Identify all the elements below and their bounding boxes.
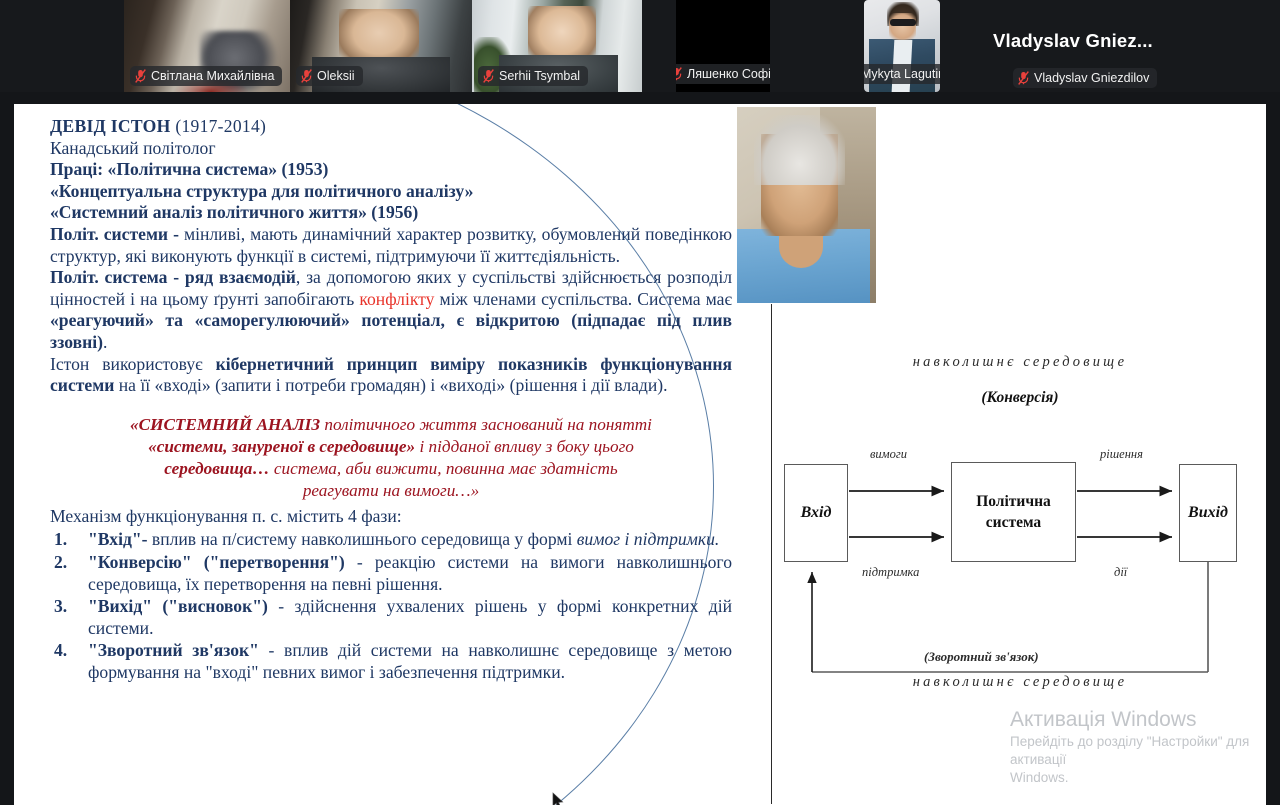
slide-text-column: ДЕВІД ІСТОН (1917-2014) Канадський політ… <box>50 116 732 683</box>
slide-subtitle: Канадський політолог <box>50 138 732 160</box>
list-item: 2."Конверсію" ("перетворення") - реакцію… <box>50 552 732 595</box>
participant-name: Mykyta Lagutin <box>864 66 940 82</box>
works-line-3: «Системний аналіз політичного життя» (19… <box>50 202 732 224</box>
list-number: 3. <box>54 596 67 618</box>
microphone-muted-icon <box>135 69 146 83</box>
phases-list: 1."Вхід"- вплив на п/систему навколишньо… <box>50 529 732 683</box>
mouse-cursor <box>552 792 564 805</box>
microphone-muted-icon <box>301 69 312 83</box>
participant-name-chip: Oleksii <box>296 66 363 86</box>
phases-intro: Механізм функціонування п. с. містить 4 … <box>50 506 732 528</box>
diagram-box-input: Вхід <box>784 464 848 562</box>
participant-name-chip: Світлана Михайлівна <box>130 66 282 86</box>
david-easton-portrait <box>737 107 876 303</box>
participant-name: Serhii Tsymbal <box>499 68 580 84</box>
quote-line-2: «системи, зануреної в середовище» і підд… <box>50 436 732 458</box>
video-tile-serhii-tsymbal[interactable]: Serhii Tsymbal <box>472 0 642 92</box>
vertical-divider <box>771 304 772 804</box>
participant-name-chip-vladyslav: Vladyslav Gniezdilov <box>1013 68 1157 88</box>
participant-name: Ляшенко Софія <box>687 66 770 82</box>
slide-title: ДЕВІД ІСТОН (1917-2014) <box>50 116 732 138</box>
microphone-muted-icon <box>483 69 494 83</box>
participant-name-chip: Ляшенко Софія <box>676 64 770 84</box>
quote-line-4: реагувати на вимоги…» <box>50 480 732 502</box>
microphone-muted-icon <box>676 67 682 81</box>
diagram-label-decisions: рішення <box>1100 447 1143 462</box>
diagram-box-system-line2: система <box>976 512 1051 533</box>
list-number: 1. <box>54 529 67 551</box>
diagram-label-actions: дії <box>1114 565 1127 580</box>
video-tile-oleksii[interactable]: Oleksii <box>290 0 472 92</box>
screen: Світлана Михайлівна Oleksii <box>0 0 1280 805</box>
works-line-2: «Концептуальна структура для політичного… <box>50 181 732 203</box>
diagram-box-output: Вихід <box>1179 464 1237 562</box>
diagram-label-demands: вимоги <box>870 447 907 462</box>
microphone-muted-icon <box>1018 71 1029 85</box>
list-number: 2. <box>54 552 67 574</box>
video-tile-mykyta-lagutin[interactable]: Mykyta Lagutin <box>864 0 940 92</box>
highlighted-word-conflict: конфлікту <box>359 289 434 309</box>
video-tile-svitlana[interactable]: Світлана Михайлівна <box>124 0 290 92</box>
list-item: 4."Зворотний зв'язок" - вплив дій систем… <box>50 640 732 683</box>
list-item: 1."Вхід"- вплив на п/систему навколишньо… <box>50 529 732 551</box>
video-participant-strip: Світлана Михайлівна Oleksii <box>0 0 1280 92</box>
highlighted-quote: «СИСТЕМНИЙ АНАЛІЗ політичного життя засн… <box>50 414 732 502</box>
list-item: 3."Вихід" ("висновок") - здійснення ухва… <box>50 596 732 639</box>
paragraph-political-system-def: Політ. система - ряд взаємодій, за допом… <box>50 267 732 353</box>
diagram-box-political-system: Політична система <box>951 462 1076 562</box>
diagram-box-system-line1: Політична <box>976 491 1051 512</box>
works-line-1: Праці: «Політична система» (1953) <box>50 159 732 181</box>
paragraph-cybernetic-principle: Істон використовує кібернетичний принцип… <box>50 354 732 397</box>
list-number: 4. <box>54 640 67 662</box>
shared-slide: ДЕВІД ІСТОН (1917-2014) Канадський політ… <box>14 104 1266 805</box>
participant-name: Oleksii <box>317 68 355 84</box>
diagram-label-feedback: (Зворотний зв'язок) <box>924 649 1039 665</box>
quote-line-1: «СИСТЕМНИЙ АНАЛІЗ політичного життя засн… <box>50 414 732 436</box>
diagram-label-environment-bottom: навколишнє середовище <box>774 674 1266 691</box>
quote-line-3: середовища… система, аби вижити, повинна… <box>50 458 732 480</box>
active-speaker-name: Vladyslav Gniez... <box>993 30 1153 52</box>
participant-name: Світлана Михайлівна <box>151 68 274 84</box>
diagram-label-support: підтримка <box>862 565 919 580</box>
video-tile-liashenko-sofiia[interactable]: Ляшенко Софія <box>676 0 770 92</box>
paragraph-political-systems: Політ. системи - мінливі, мають динамічн… <box>50 224 732 267</box>
participant-name-chip: Serhii Tsymbal <box>478 66 588 86</box>
participant-name: Vladyslav Gniezdilov <box>1034 70 1149 86</box>
political-system-diagram: навколишнє середовище (Конверсія) <box>774 354 1266 699</box>
participant-name-chip: Mykyta Lagutin <box>864 64 940 84</box>
